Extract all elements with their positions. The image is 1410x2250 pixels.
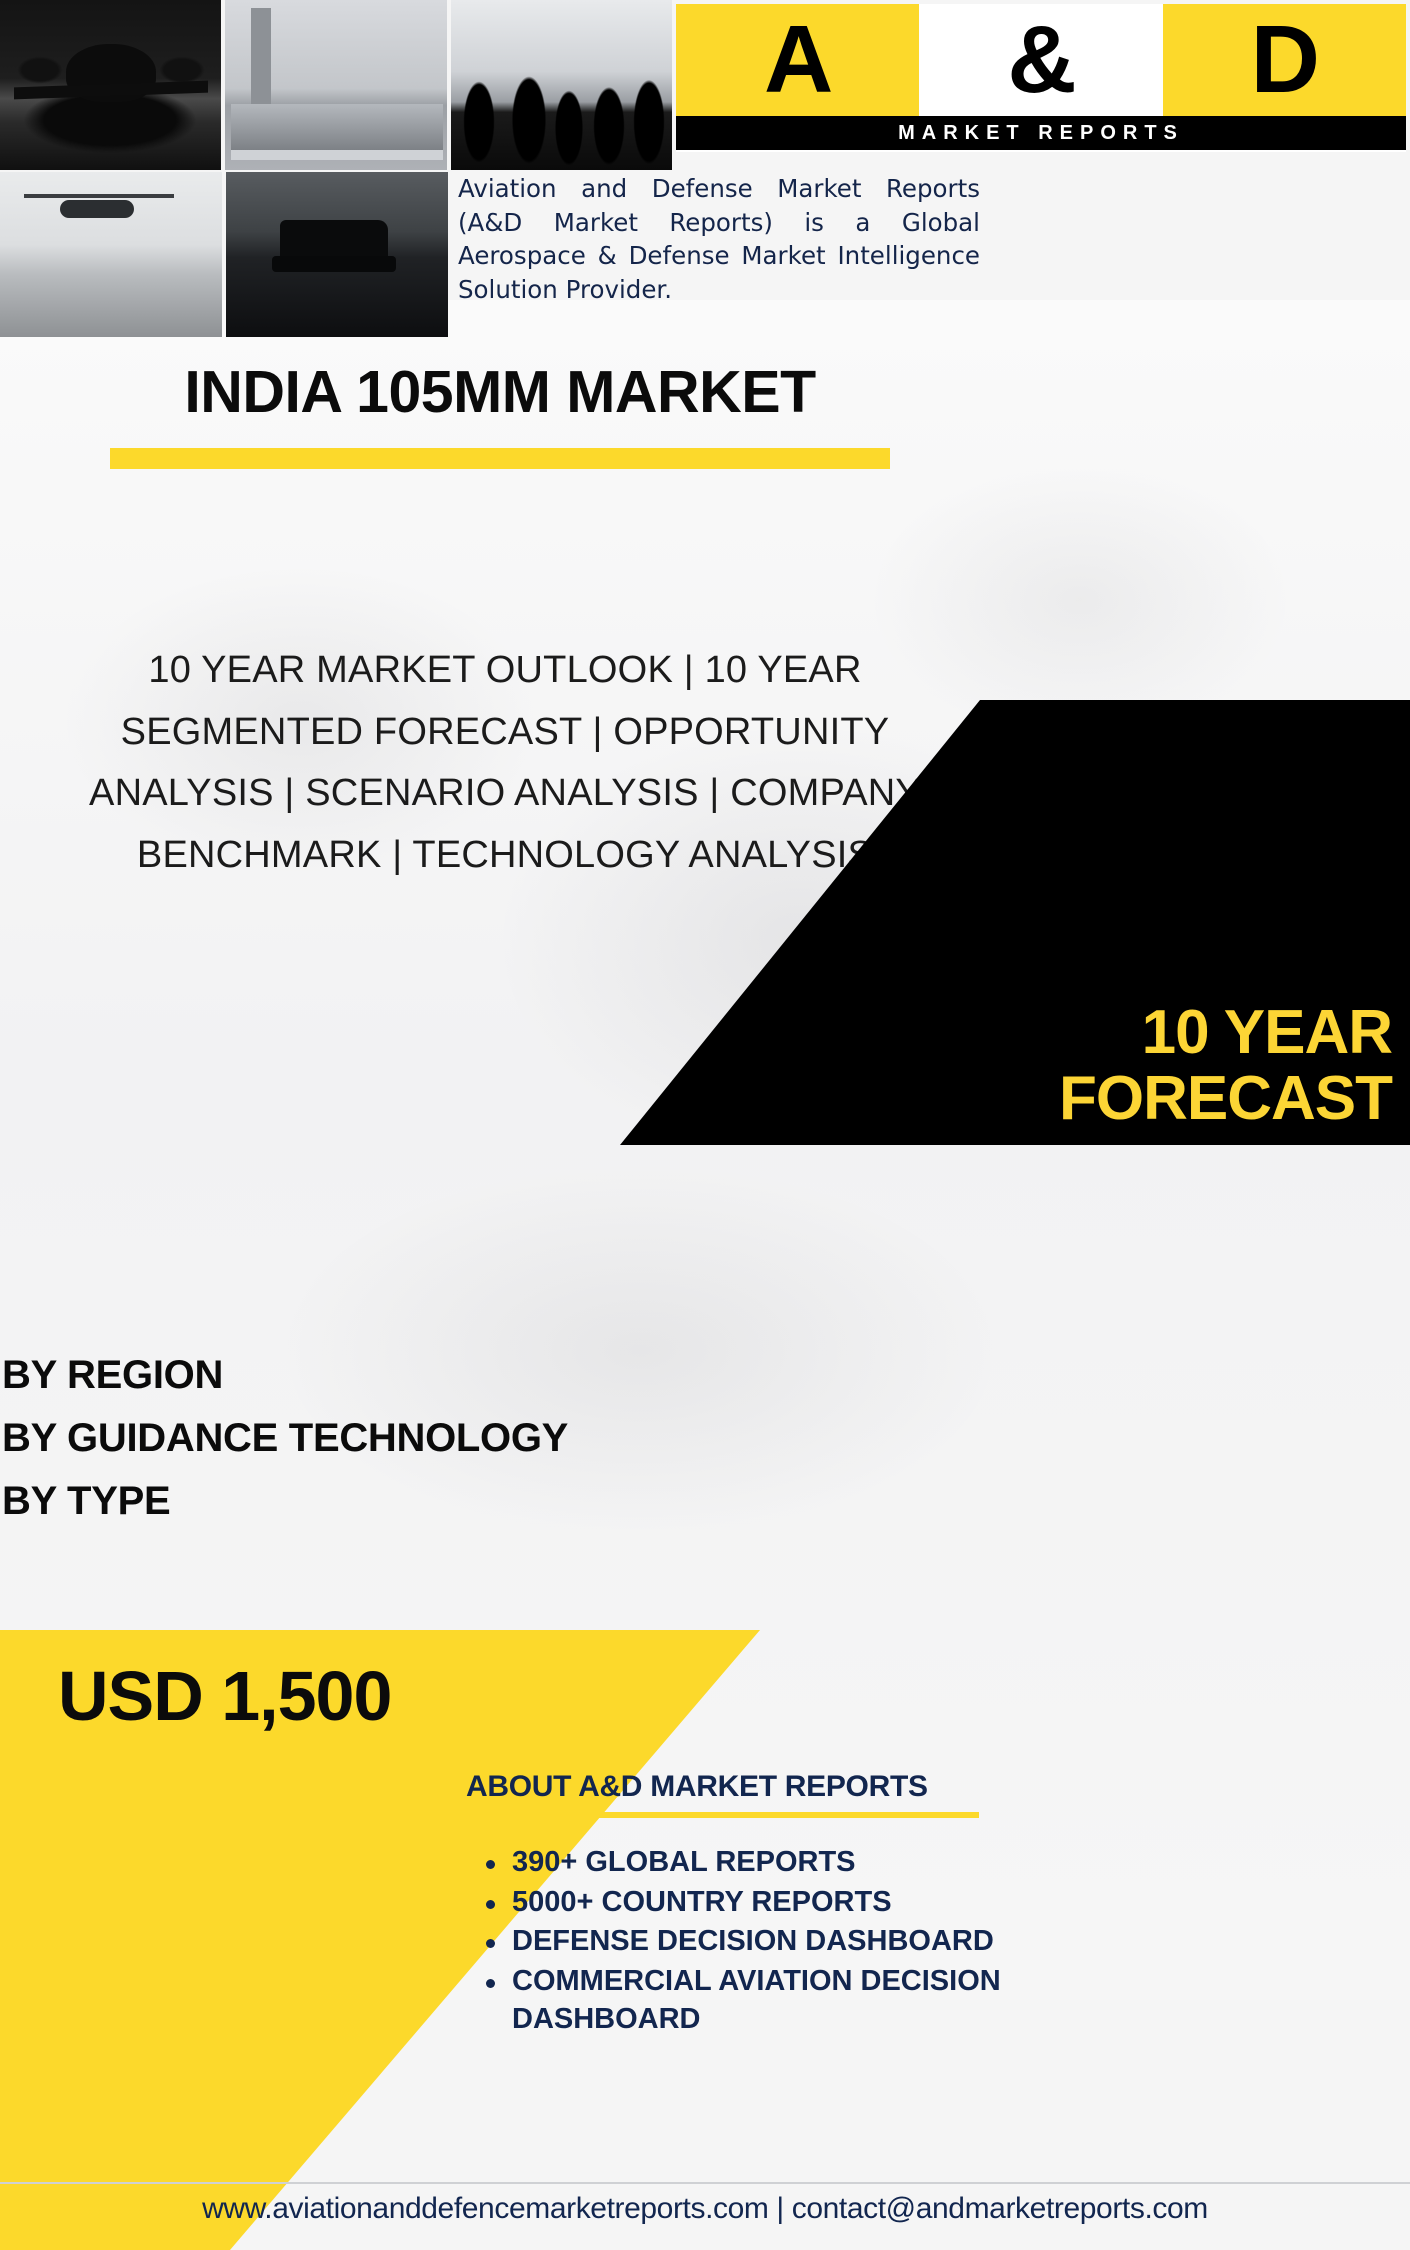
report-cover-page: A & D MARKET REPORTS Aviation and Defens… [0, 0, 1410, 2250]
aircraft-carrier-photo [225, 0, 446, 170]
segmentation-item-region: BY REGION [2, 1344, 642, 1407]
forecast-line-1: 10 YEAR [972, 1000, 1392, 1066]
price-value: USD 1,500 [58, 1656, 391, 1736]
about-bullet-list: 390+ GLOBAL REPORTS 5000+ COUNTRY REPORT… [470, 1844, 1032, 2040]
segmentation-list: BY REGION BY GUIDANCE TECHNOLOGY BY TYPE [2, 1344, 642, 1534]
soldiers-silhouette-photo [451, 0, 672, 170]
list-item: 5000+ COUNTRY REPORTS [512, 1884, 1032, 1922]
forecast-line-2: FORECAST [972, 1066, 1392, 1132]
about-heading-underline [466, 1812, 979, 1818]
outlook-description: 10 YEAR MARKET OUTLOOK | 10 YEAR SEGMENT… [30, 640, 980, 886]
about-heading: ABOUT A&D MARKET REPORTS [466, 1770, 986, 1804]
segmentation-item-type: BY TYPE [2, 1470, 642, 1533]
photo-strip-top [0, 0, 672, 170]
footer-divider [0, 2182, 1410, 2184]
photo-strip-second [0, 172, 448, 337]
segmentation-item-guidance-technology: BY GUIDANCE TECHNOLOGY [2, 1407, 642, 1470]
page-title: INDIA 105MM MARKET [0, 358, 1000, 426]
helicopter-photo [0, 172, 222, 337]
logo-subtitle-text: MARKET REPORTS [898, 122, 1184, 145]
logo-letter-a: A [676, 4, 919, 116]
list-item: DEFENSE DECISION DASHBOARD [512, 1923, 1032, 1961]
logo-letter-d: D [1163, 4, 1406, 116]
logo-letters-row: A & D [676, 4, 1406, 116]
title-underline-rule [110, 448, 890, 469]
fighter-jet-photo [0, 0, 221, 170]
logo-subtitle-bar: MARKET REPORTS [676, 116, 1406, 150]
list-item: 390+ GLOBAL REPORTS [512, 1844, 1032, 1882]
forecast-badge: 10 YEAR FORECAST [972, 1000, 1392, 1131]
footer-contact[interactable]: www.aviationanddefencemarketreports.com … [0, 2192, 1410, 2226]
intro-paragraph: Aviation and Defense Market Reports (A&D… [458, 172, 980, 306]
logo-letter-ampersand: & [919, 4, 1162, 116]
brand-logo: A & D MARKET REPORTS [676, 4, 1406, 152]
armored-vehicle-photo [226, 172, 448, 337]
list-item: COMMERCIAL AVIATION DECISION DASHBOARD [512, 1963, 1032, 2038]
